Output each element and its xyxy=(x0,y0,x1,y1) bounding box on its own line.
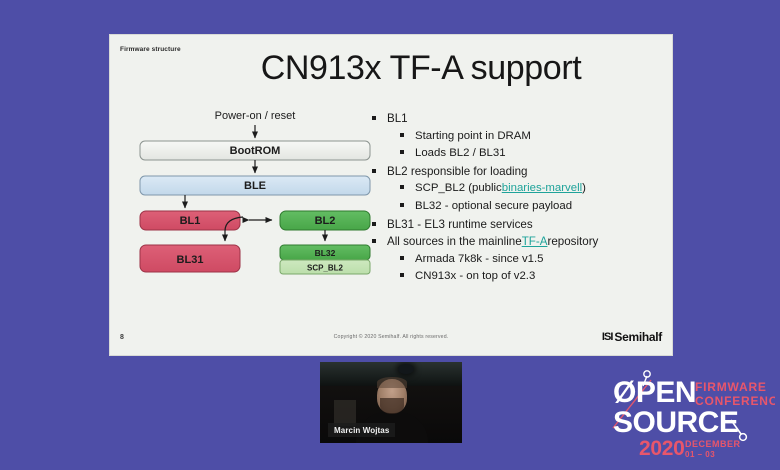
osfc-month: DECEMBER xyxy=(685,439,741,449)
list-item: BL2 responsible for loading xyxy=(372,163,664,181)
osfc-conference: CONFERENCE xyxy=(695,394,775,408)
bullet-square-icon xyxy=(400,273,404,277)
list-item-label: BL32 - optional secure payload xyxy=(415,198,572,216)
list-item: Loads BL2 / BL31 xyxy=(372,145,664,163)
list-item: All sources in the mainline TF-A reposit… xyxy=(372,233,664,251)
webcam-speaker-beard xyxy=(380,398,404,414)
osfc-firmware: FIRMWARE xyxy=(695,380,767,394)
list-item-label: BL31 - EL3 runtime services xyxy=(387,216,533,234)
bullet-square-icon xyxy=(372,116,376,120)
list-item: SCP_BL2 (public binaries-marvell) xyxy=(372,180,664,198)
list-item-label: Armada 7k8k - since v1.5 xyxy=(415,251,544,269)
diagram-box-bl31: BL31 xyxy=(177,254,204,266)
diagram-box-ble: BLE xyxy=(244,180,266,192)
bullet-square-icon xyxy=(372,239,376,243)
list-item-label: CN913x - on top of v2.3 xyxy=(415,268,535,286)
list-item-label-suffix: ) xyxy=(582,180,586,198)
diagram-box-bl2: BL2 xyxy=(315,215,336,227)
osfc-year: 2020 xyxy=(639,437,685,460)
list-item-label: SCP_BL2 (public xyxy=(415,180,502,198)
list-item: Armada 7k8k - since v1.5 xyxy=(372,251,664,269)
list-item-label: Starting point in DRAM xyxy=(415,128,531,146)
diagram-box-bl1: BL1 xyxy=(180,215,201,227)
bullet-square-icon xyxy=(400,133,404,137)
bullet-list: BL1 Starting point in DRAM Loads BL2 / B… xyxy=(372,110,664,286)
list-item: BL1 xyxy=(372,110,664,128)
osfc-line2: SOURCE xyxy=(613,406,738,439)
osfc-days: 01 – 03 xyxy=(685,450,715,459)
diagram-box-bl32: BL32 xyxy=(315,248,336,258)
list-item-label: All sources in the mainline xyxy=(387,233,522,251)
tf-a-link[interactable]: TF-A xyxy=(522,233,548,251)
bullet-square-icon xyxy=(372,169,376,173)
video-stage: Firmware structure CN913x TF-A support xyxy=(0,0,780,470)
presentation-slide: Firmware structure CN913x TF-A support xyxy=(110,35,672,355)
bullet-square-icon xyxy=(400,150,404,154)
binaries-marvell-link[interactable]: binaries-marvell xyxy=(502,180,582,198)
list-item-label: BL1 xyxy=(387,110,408,128)
semihalf-wordmark: Semihalf xyxy=(614,330,662,344)
speaker-webcam-feed: Marcin Wojtas xyxy=(320,362,462,443)
osfc-conference-logo: ØPEN SOURCE FIRMWARE CONFERENCE 2020 DEC… xyxy=(607,366,775,462)
copyright-text: Copyright © 2020 Semihalf. All rights re… xyxy=(110,334,672,340)
list-item-label: Loads BL2 / BL31 xyxy=(415,145,506,163)
bullet-square-icon xyxy=(372,222,376,226)
list-item-label: BL2 responsible for loading xyxy=(387,163,528,181)
webcam-speaker-hair xyxy=(377,377,407,388)
bullet-square-icon xyxy=(400,185,404,189)
webcam-ceiling-lamp xyxy=(398,364,414,374)
semihalf-mark-icon: ISI xyxy=(602,331,612,343)
bullet-square-icon xyxy=(400,203,404,207)
diagram-entry-label: Power-on / reset xyxy=(215,110,296,122)
list-item: Starting point in DRAM xyxy=(372,128,664,146)
list-item: CN913x - on top of v2.3 xyxy=(372,268,664,286)
page-title: CN913x TF-A support xyxy=(110,49,672,88)
firmware-boot-flow-diagram: Power-on / reset BootROM BLE BL1 BL2 xyxy=(130,107,380,292)
diagram-box-bootrom: BootROM xyxy=(230,145,281,157)
slide-footer: 8 Copyright © 2020 Semihalf. All rights … xyxy=(110,313,672,355)
osfc-line1: ØPEN xyxy=(613,376,696,409)
bullet-square-icon xyxy=(400,256,404,260)
speaker-name-label: Marcin Wojtas xyxy=(328,423,395,437)
list-item: BL32 - optional secure payload xyxy=(372,198,664,216)
list-item: BL31 - EL3 runtime services xyxy=(372,216,664,234)
semihalf-logo: ISI Semihalf xyxy=(602,330,662,344)
list-item-label-suffix: repository xyxy=(547,233,598,251)
diagram-box-scp-bl2: SCP_BL2 xyxy=(307,264,344,273)
